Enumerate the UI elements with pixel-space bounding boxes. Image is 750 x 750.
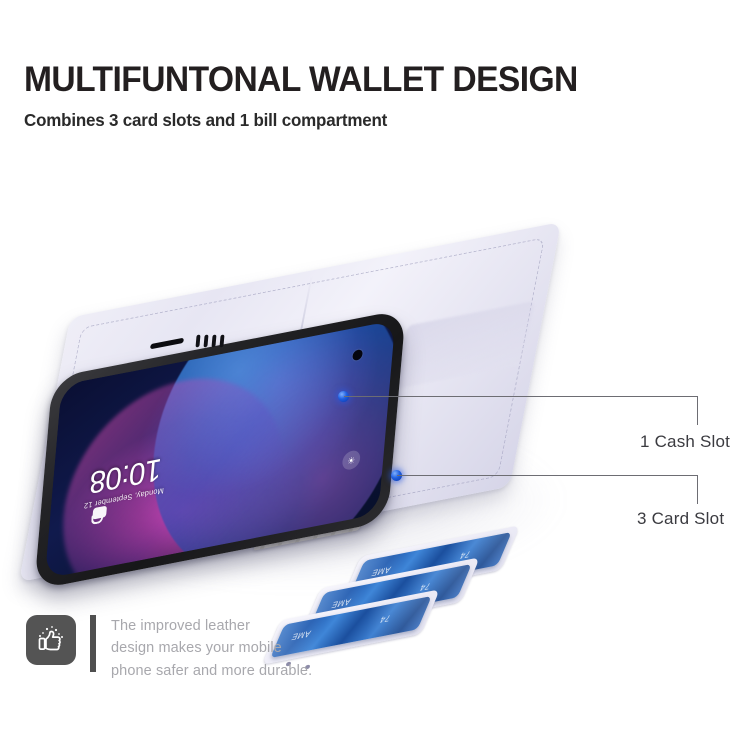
callout-leader-cash-horizontal <box>344 396 698 397</box>
footer-line-1: The improved leather <box>111 615 312 637</box>
footer-text: The improved leather design makes your m… <box>111 615 312 682</box>
callout-leader-cash-vertical <box>697 396 698 425</box>
callout-label-cash-slot: 1 Cash Slot <box>640 432 730 452</box>
page-subtitle: Combines 3 card slots and 1 bill compart… <box>24 110 703 131</box>
infographic-page: MULTIFUNTONAL WALLET DESIGN Combines 3 c… <box>0 0 750 750</box>
callout-leader-card-vertical <box>697 475 698 504</box>
footer-line-3: phone safer and more durable. <box>111 660 312 682</box>
thumbs-up-icon <box>26 615 76 665</box>
page-title: MULTIFUNTONAL WALLET DESIGN <box>24 62 696 99</box>
product-photo: AME 74 AME 74 AME 74 Monday, September 1 <box>0 165 640 585</box>
callout-leader-card-horizontal <box>397 475 698 476</box>
callout-label-card-slot: 3 Card Slot <box>637 509 724 529</box>
card-label: 74 <box>378 613 392 625</box>
footer-line-2: design makes your mobile <box>111 637 312 659</box>
header: MULTIFUNTONAL WALLET DESIGN Combines 3 c… <box>24 62 724 131</box>
footer-note: The improved leather design makes your m… <box>26 615 312 682</box>
footer-divider <box>90 615 96 672</box>
